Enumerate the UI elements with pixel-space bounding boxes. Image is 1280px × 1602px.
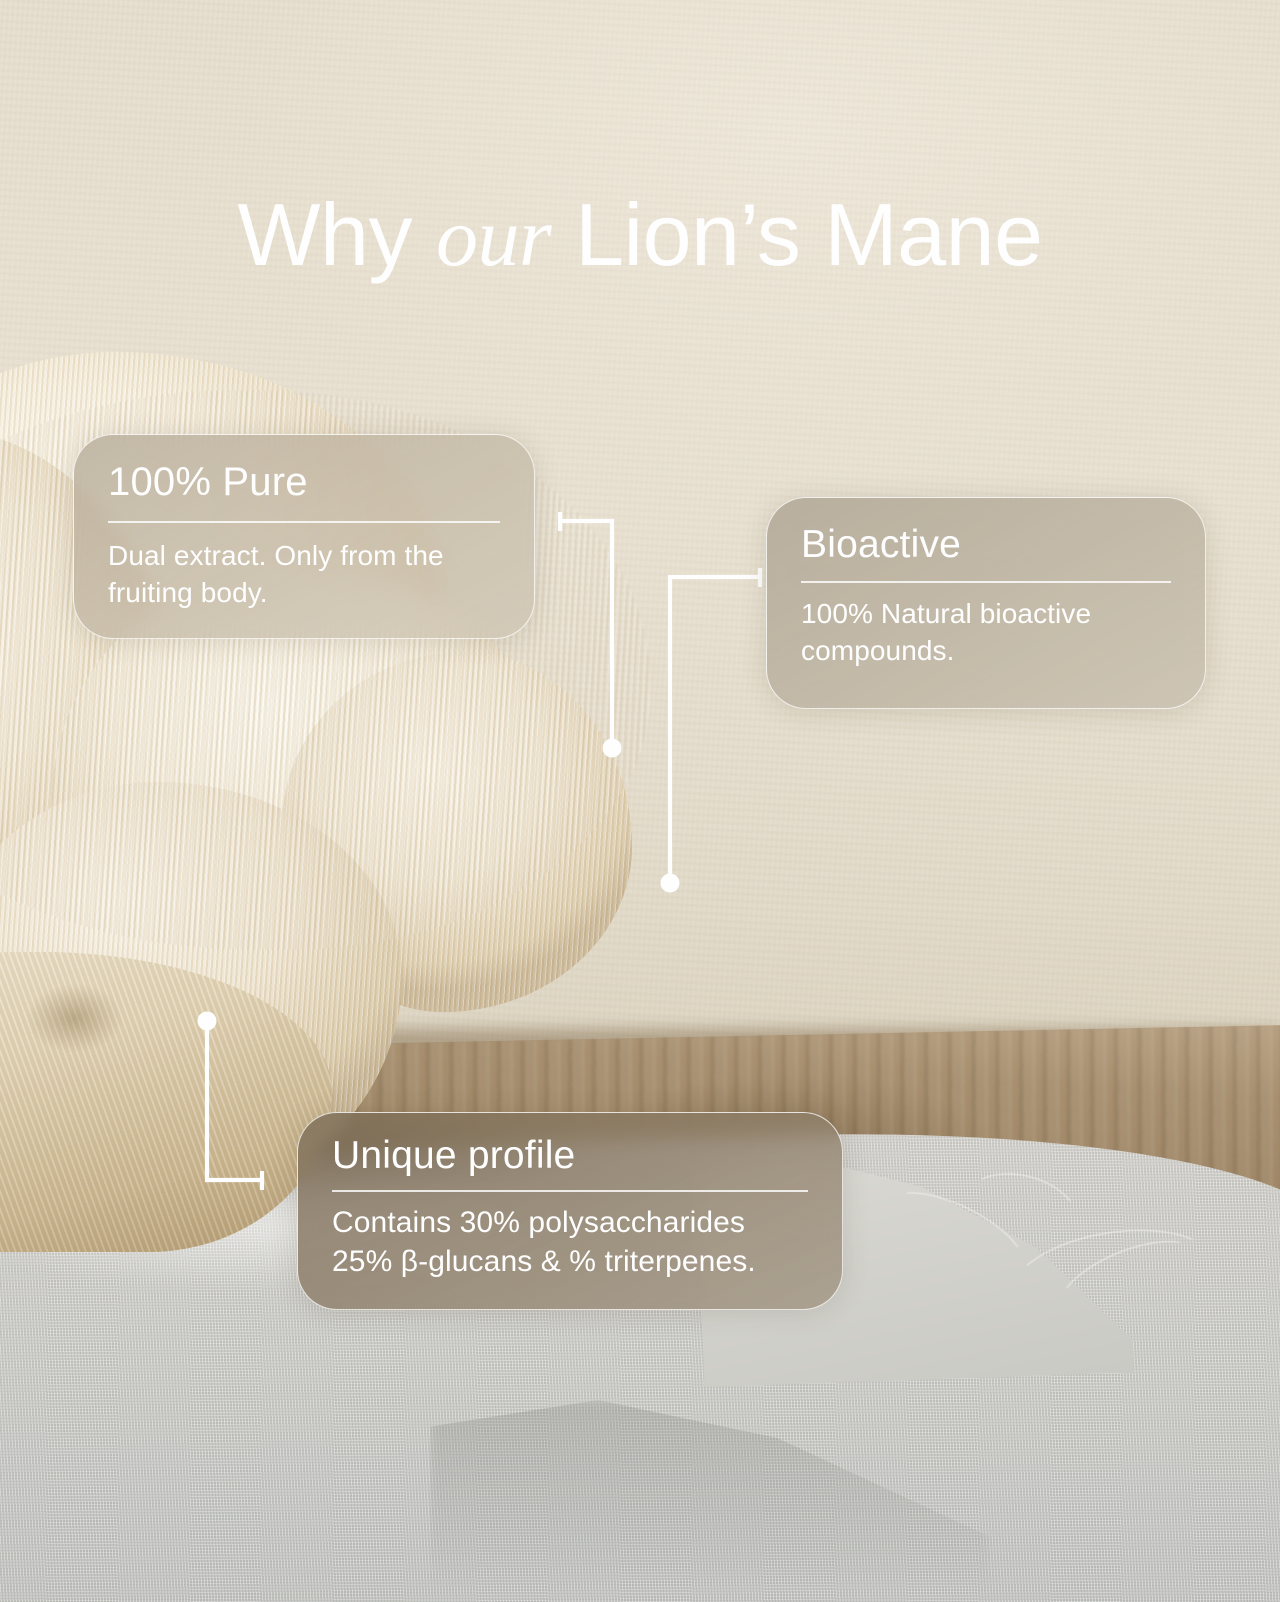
title-emphasis: our [436,191,551,284]
card-pure-body: Dual extract. Only from the fruiting bod… [108,537,500,611]
card-profile-divider [332,1190,808,1191]
callout-card-unique-profile: Unique profile Contains 30% polysacchari… [297,1112,843,1310]
title-part-2: Lion’s Mane [551,185,1042,284]
callout-card-pure: 100% Pure Dual extract. Only from the fr… [73,434,535,639]
callout-card-bioactive: Bioactive 100% Natural bioactive compoun… [766,497,1206,709]
card-bioactive-divider [801,581,1171,582]
card-bioactive-heading: Bioactive [801,524,1171,565]
card-pure-heading: 100% Pure [108,461,500,503]
page-title: Why our Lion’s Mane [0,191,1280,280]
card-profile-body: Contains 30% polysaccharides 25% β-gluca… [332,1203,808,1281]
promo-graphic: Why our Lion’s Mane 100% Pure Dual extra… [0,0,1280,1602]
title-part-1: Why [237,185,435,284]
card-profile-heading: Unique profile [332,1135,808,1176]
card-bioactive-body: 100% Natural bioactive compounds. [801,595,1171,669]
card-pure-divider [108,521,500,522]
